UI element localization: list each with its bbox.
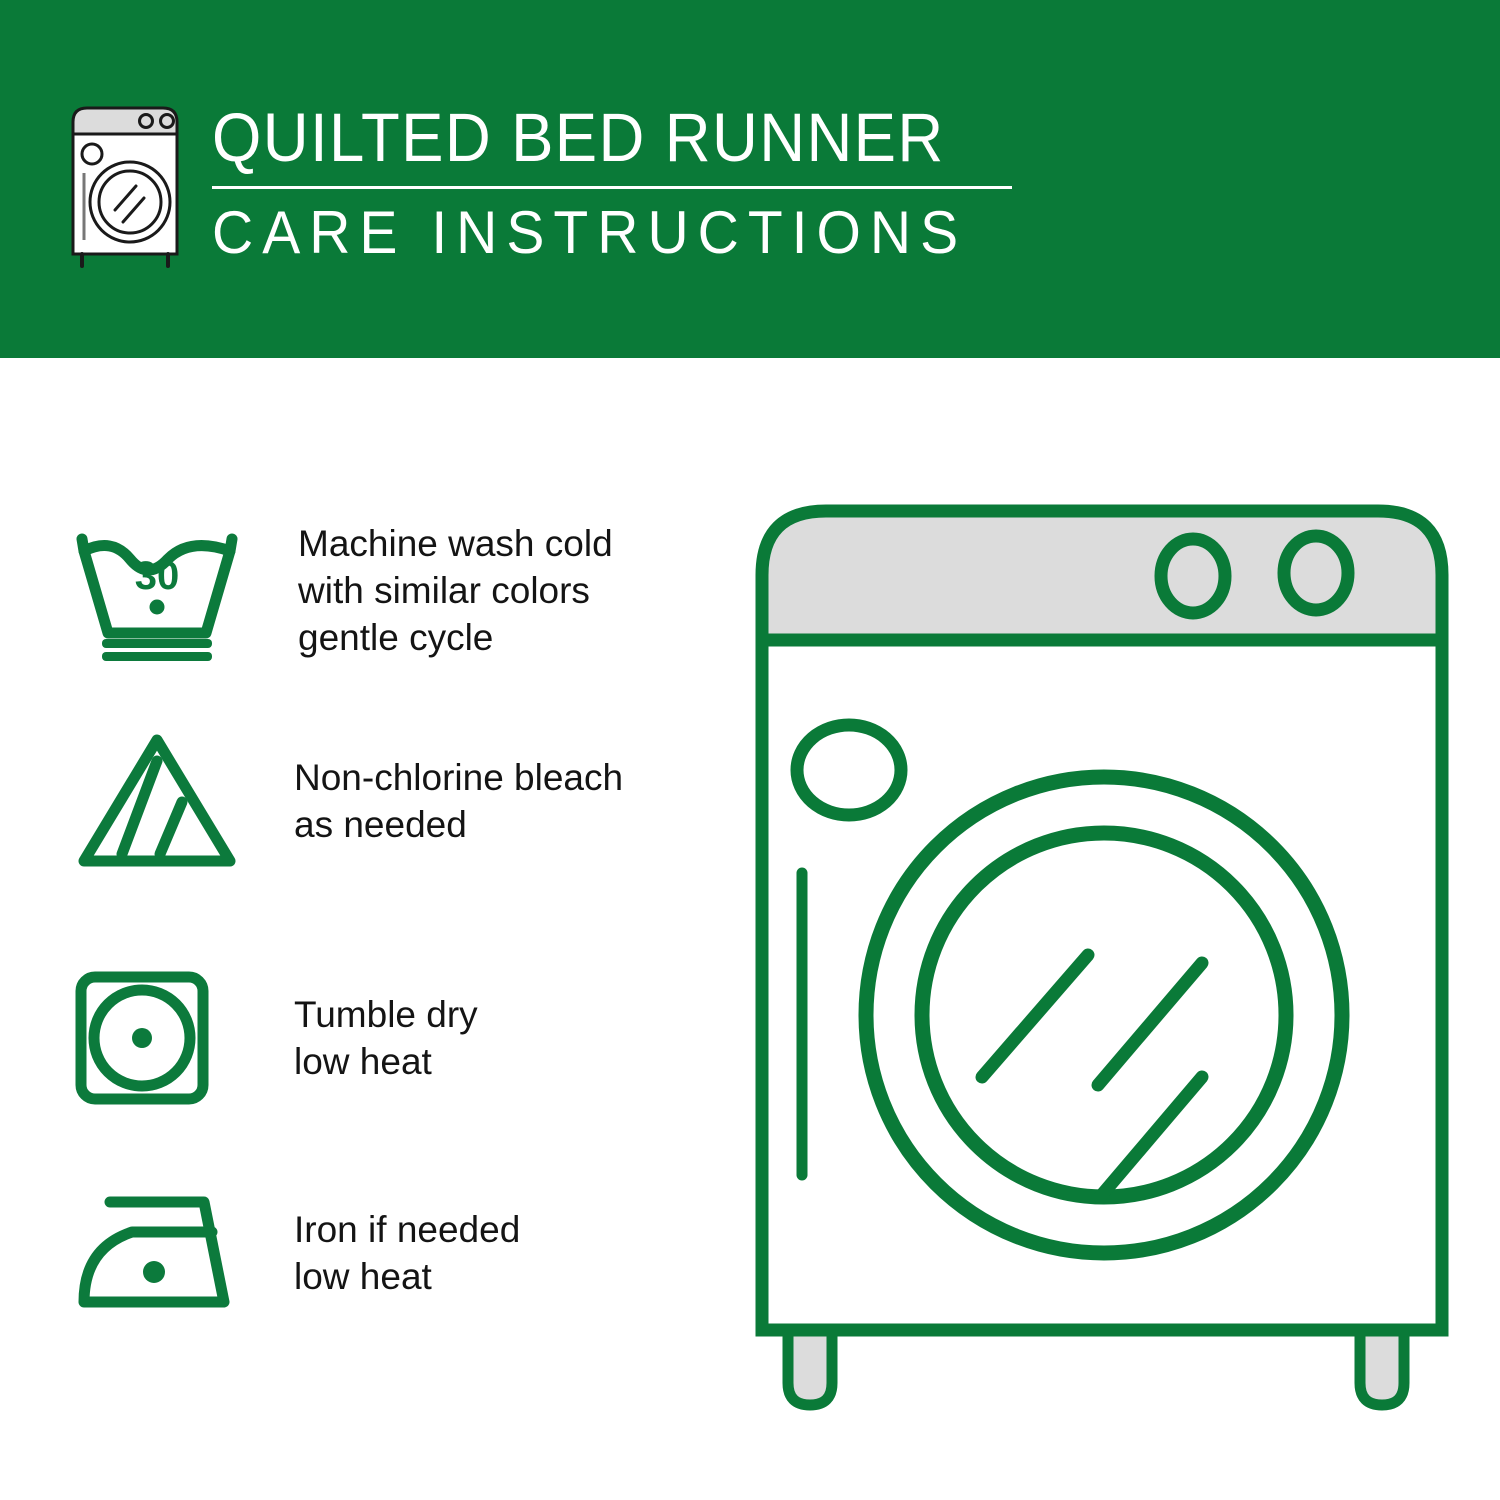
page-subtitle: CARE INSTRUCTIONS bbox=[212, 201, 972, 265]
iron-low-heat-icon bbox=[72, 1190, 242, 1315]
non-chlorine-bleach-triangle-icon bbox=[72, 728, 242, 873]
title-block: QUILTED BED RUNNER CARE INSTRUCTIONS bbox=[212, 98, 1012, 265]
list-item-label: Non-chlorine bleach as needed bbox=[294, 754, 623, 848]
tumble-dry-low-icon bbox=[72, 968, 212, 1108]
wash-tub-30-gentle-icon: 30 bbox=[72, 521, 242, 661]
list-item-label: Machine wash cold with similar colors ge… bbox=[298, 520, 613, 661]
title-divider bbox=[212, 186, 1012, 189]
list-item: Iron if needed low heat bbox=[72, 1190, 520, 1315]
care-instruction-list: 30 Machine wash cold with similar colors… bbox=[0, 360, 700, 1500]
list-item: Non-chlorine bleach as needed bbox=[72, 728, 623, 873]
header-content: QUILTED BED RUNNER CARE INSTRUCTIONS bbox=[60, 98, 1012, 268]
list-item-label: Tumble dry low heat bbox=[294, 991, 478, 1085]
washing-machine-icon bbox=[60, 98, 190, 268]
header-banner: QUILTED BED RUNNER CARE INSTRUCTIONS bbox=[0, 0, 1500, 358]
list-item: 30 Machine wash cold with similar colors… bbox=[72, 520, 613, 661]
page-title: QUILTED BED RUNNER bbox=[212, 102, 948, 174]
wash-temperature-label: 30 bbox=[135, 554, 180, 598]
list-item: Tumble dry low heat bbox=[72, 968, 478, 1108]
washing-machine-graphic bbox=[740, 485, 1470, 1450]
list-item-label: Iron if needed low heat bbox=[294, 1206, 520, 1300]
control-panel bbox=[762, 511, 1442, 640]
washing-machine-illustration bbox=[740, 485, 1470, 1450]
